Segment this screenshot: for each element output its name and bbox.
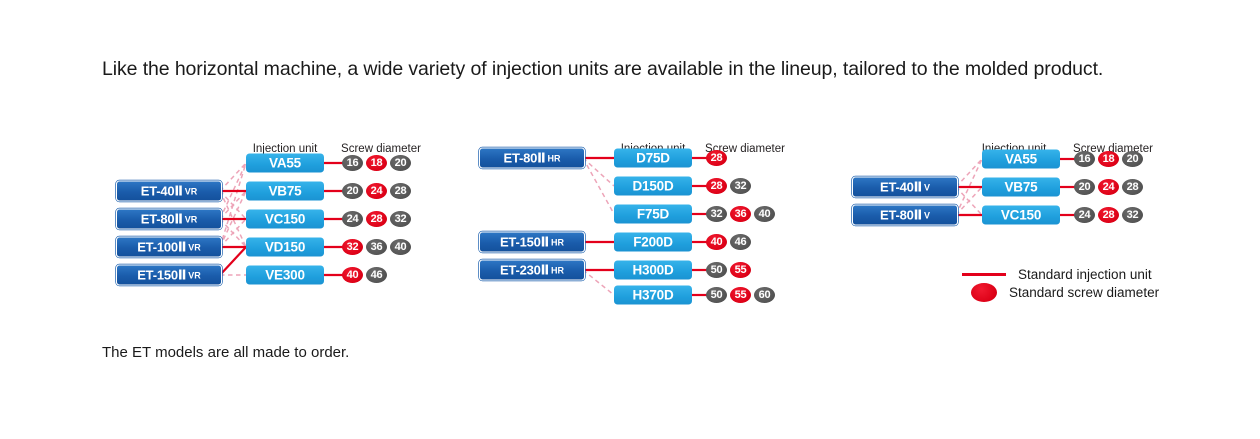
screw-diameter-option: 20 — [1074, 179, 1095, 195]
legend-standard-screw-diameter: Standard screw diameter — [971, 283, 1159, 302]
screw-diameter-standard: 24 — [1098, 179, 1119, 195]
model-suffix: HR — [548, 153, 561, 163]
screw-diameter-standard: 40 — [342, 267, 363, 283]
screw-diameter-standard: 55 — [730, 262, 751, 278]
injection-unit-pill[interactable]: VA55 — [982, 150, 1060, 169]
model-pill[interactable]: ET-80ⅡHR — [479, 148, 585, 169]
injection-unit-label: VB75 — [269, 184, 302, 199]
legend-line-icon — [962, 273, 1006, 275]
injection-unit-pill[interactable]: VB75 — [982, 178, 1060, 197]
screw-diameter-option: 20 — [390, 155, 411, 171]
model-pill[interactable]: ET-80ⅡV — [852, 205, 958, 226]
model-name: ET-150Ⅱ — [137, 267, 186, 283]
model-suffix: VR — [188, 270, 201, 280]
screw-diameter-standard: 28 — [706, 150, 727, 166]
screw-diameter-standard: 24 — [366, 183, 387, 199]
injection-unit-label: H300D — [632, 263, 673, 278]
model-name: ET-100Ⅱ — [137, 239, 186, 255]
injection-unit-pill[interactable]: F200D — [614, 233, 692, 252]
screw-diameter-option: 24 — [1074, 207, 1095, 223]
legend-standard-injection-unit: Standard injection unit — [962, 267, 1152, 282]
injection-unit-label: VC150 — [1001, 208, 1041, 223]
model-pill[interactable]: ET-40ⅡV — [852, 177, 958, 198]
model-pill[interactable]: ET-150ⅡVR — [116, 265, 222, 286]
model-pill[interactable]: ET-150ⅡHR — [479, 232, 585, 253]
injection-unit-label: H370D — [632, 288, 673, 303]
model-pill[interactable]: ET-80ⅡVR — [116, 209, 222, 230]
screw-diameter-option: 32 — [730, 178, 751, 194]
screw-diameter-standard: 40 — [706, 234, 727, 250]
screw-diameter-option: 50 — [706, 287, 727, 303]
injection-unit-pill[interactable]: D75D — [614, 149, 692, 168]
injection-unit-label: VA55 — [1005, 152, 1037, 167]
injection-unit-pill[interactable]: VC150 — [982, 206, 1060, 225]
injection-unit-label: F200D — [633, 235, 673, 250]
injection-unit-label: VB75 — [1005, 180, 1038, 195]
injection-unit-pill[interactable]: VB75 — [246, 182, 324, 201]
legend-dot-icon — [971, 283, 997, 302]
column-header-screw-diameter-vr: Screw diameter — [341, 143, 421, 155]
screw-diameter-option: 40 — [390, 239, 411, 255]
screw-diameter-option: 24 — [342, 211, 363, 227]
model-name: ET-40Ⅱ — [880, 179, 922, 195]
screw-diameter-standard: 36 — [730, 206, 751, 222]
screw-diameter-standard: 32 — [342, 239, 363, 255]
injection-unit-pill[interactable]: D150D — [614, 177, 692, 196]
screw-diameter-option: 32 — [706, 206, 727, 222]
screw-diameter-option: 60 — [754, 287, 775, 303]
model-name: ET-80Ⅱ — [503, 150, 545, 166]
injection-unit-pill[interactable]: H300D — [614, 261, 692, 280]
model-suffix: HR — [551, 237, 564, 247]
screw-diameter-standard: 28 — [706, 178, 727, 194]
model-pill[interactable]: ET-230ⅡHR — [479, 260, 585, 281]
model-pill[interactable]: ET-100ⅡVR — [116, 237, 222, 258]
injection-unit-label: VA55 — [269, 156, 301, 171]
model-suffix: VR — [185, 214, 198, 224]
legend-dot-label: Standard screw diameter — [1009, 285, 1159, 300]
model-suffix: HR — [551, 265, 564, 275]
injection-unit-pill[interactable]: H370D — [614, 286, 692, 305]
screw-diameter-option: 28 — [390, 183, 411, 199]
model-name: ET-230Ⅱ — [500, 262, 549, 278]
screw-diameter-option: 20 — [342, 183, 363, 199]
injection-unit-label: VC150 — [265, 212, 305, 227]
screw-diameter-option: 16 — [1074, 151, 1095, 167]
screw-diameter-standard: 28 — [366, 211, 387, 227]
screw-diameter-option: 46 — [730, 234, 751, 250]
screw-diameter-option: 16 — [342, 155, 363, 171]
screw-diameter-standard: 55 — [730, 287, 751, 303]
injection-unit-pill[interactable]: VA55 — [246, 154, 324, 173]
legend-line-label: Standard injection unit — [1018, 267, 1152, 282]
injection-unit-pill[interactable]: VE300 — [246, 266, 324, 285]
injection-unit-label: VE300 — [265, 268, 305, 283]
screw-diameter-option: 36 — [366, 239, 387, 255]
screw-diameter-option: 50 — [706, 262, 727, 278]
model-suffix: V — [924, 210, 930, 220]
page-footnote: The ET models are all made to order. — [102, 344, 349, 361]
model-suffix: VR — [185, 186, 198, 196]
screw-diameter-standard: 28 — [1098, 207, 1119, 223]
screw-diameter-option: 32 — [1122, 207, 1143, 223]
injection-unit-label: F75D — [637, 207, 669, 222]
screw-diameter-option: 20 — [1122, 151, 1143, 167]
screw-diameter-option: 46 — [366, 267, 387, 283]
model-name: ET-80Ⅱ — [141, 211, 183, 227]
injection-unit-label: D150D — [632, 179, 673, 194]
injection-unit-label: D75D — [636, 151, 670, 166]
model-name: ET-40Ⅱ — [141, 183, 183, 199]
injection-unit-pill[interactable]: VC150 — [246, 210, 324, 229]
injection-unit-pill[interactable]: F75D — [614, 205, 692, 224]
model-suffix: VR — [188, 242, 201, 252]
model-name: ET-80Ⅱ — [880, 207, 922, 223]
model-name: ET-150Ⅱ — [500, 234, 549, 250]
model-pill[interactable]: ET-40ⅡVR — [116, 181, 222, 202]
screw-diameter-standard: 18 — [1098, 151, 1119, 167]
injection-unit-label: VD150 — [265, 240, 305, 255]
screw-diameter-option: 32 — [390, 211, 411, 227]
model-suffix: V — [924, 182, 930, 192]
screw-diameter-option: 40 — [754, 206, 775, 222]
screw-diameter-option: 28 — [1122, 179, 1143, 195]
injection-unit-pill[interactable]: VD150 — [246, 238, 324, 257]
screw-diameter-standard: 18 — [366, 155, 387, 171]
